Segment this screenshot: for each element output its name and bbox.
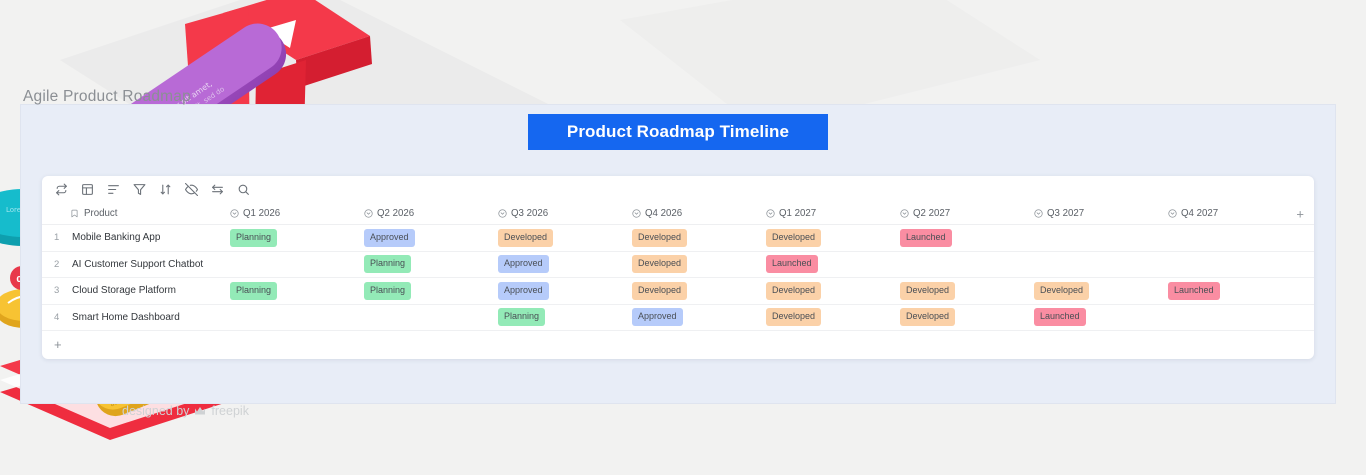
status-cell-q4-2026[interactable]: Developed <box>632 282 766 300</box>
status-cell-q2-2026[interactable]: Approved <box>364 229 498 247</box>
header-column-q3-2027[interactable]: Q3 2027 <box>1034 208 1168 219</box>
row-product-name[interactable]: Smart Home Dashboard <box>70 312 230 323</box>
status-badge: Planning <box>230 229 277 247</box>
status-cell-q1-2027[interactable]: Launched <box>766 255 900 273</box>
single-select-icon <box>900 209 909 218</box>
single-select-icon <box>1034 209 1043 218</box>
status-badge: Launched <box>900 229 952 247</box>
row-product-name[interactable]: AI Customer Support Chatbot <box>70 259 230 270</box>
hide-fields-icon[interactable] <box>180 180 202 200</box>
status-cell-q1-2026[interactable]: Planning <box>230 229 364 247</box>
row-height-icon[interactable] <box>102 180 124 200</box>
header-column-q1-2026[interactable]: Q1 2026 <box>230 208 364 219</box>
header-column-label: Q1 2026 <box>243 208 280 219</box>
status-cell-q1-2027[interactable]: Developed <box>766 308 900 326</box>
status-cell-q3-2027[interactable]: Launched <box>1034 308 1168 326</box>
search-icon[interactable] <box>232 180 254 200</box>
table-row[interactable]: 3Cloud Storage PlatformPlanningPlanningA… <box>42 278 1314 305</box>
status-cell-q2-2026[interactable]: Planning <box>364 282 498 300</box>
table-header-row: Product Q1 2026 Q2 2026 Q3 2026 Q4 2026 <box>42 203 1314 225</box>
status-badge: Developed <box>766 282 821 300</box>
header-column-q2-2026[interactable]: Q2 2026 <box>364 208 498 219</box>
status-badge: Approved <box>364 229 415 247</box>
bookmark-icon <box>70 209 79 218</box>
status-cell-q4-2026[interactable]: Approved <box>632 308 766 326</box>
add-column-button[interactable]: + <box>1296 207 1304 220</box>
watermark-prefix: designed by <box>122 404 189 418</box>
header-column-label: Q4 2027 <box>1181 208 1218 219</box>
header-column-label: Q2 2027 <box>913 208 950 219</box>
status-badge: Developed <box>1034 282 1089 300</box>
row-product-name[interactable]: Cloud Storage Platform <box>70 285 230 296</box>
header-product-column[interactable]: Product <box>70 208 230 219</box>
single-select-icon <box>632 209 641 218</box>
status-badge: Developed <box>766 229 821 247</box>
header-column-q4-2026[interactable]: Q4 2026 <box>632 208 766 219</box>
status-cell-q3-2026[interactable]: Approved <box>498 255 632 273</box>
row-index: 4 <box>42 312 70 323</box>
crown-icon <box>194 406 206 416</box>
header-column-q2-2027[interactable]: Q2 2027 <box>900 208 1034 219</box>
row-index: 1 <box>42 232 70 243</box>
status-cell-q2-2027[interactable]: Developed <box>900 282 1034 300</box>
status-badge: Developed <box>632 229 687 247</box>
single-select-icon <box>230 209 239 218</box>
status-badge: Planning <box>364 282 411 300</box>
status-cell-q1-2026[interactable]: Planning <box>230 282 364 300</box>
single-select-icon <box>498 209 507 218</box>
status-cell-q2-2026[interactable]: Planning <box>364 255 498 273</box>
status-badge: Planning <box>364 255 411 273</box>
table-toolbar <box>42 176 1314 203</box>
status-cell-q1-2027[interactable]: Developed <box>766 282 900 300</box>
banner-title: Product Roadmap Timeline <box>567 122 789 142</box>
single-select-icon <box>364 209 373 218</box>
roadmap-banner: Product Roadmap Timeline <box>528 114 828 150</box>
status-badge: Approved <box>632 308 683 326</box>
header-column-q4-2027[interactable]: Q4 2027 <box>1168 208 1302 219</box>
status-badge: Developed <box>632 282 687 300</box>
status-cell-q2-2027[interactable]: Developed <box>900 308 1034 326</box>
header-column-label: Q2 2026 <box>377 208 414 219</box>
page-title: Agile Product Roadmap <box>23 88 191 106</box>
status-badge: Planning <box>498 308 545 326</box>
status-cell-q3-2026[interactable]: Developed <box>498 229 632 247</box>
header-column-q3-2026[interactable]: Q3 2026 <box>498 208 632 219</box>
status-badge: Launched <box>1034 308 1086 326</box>
roadmap-table-card: Product Q1 2026 Q2 2026 Q3 2026 Q4 2026 <box>42 176 1314 359</box>
table-row[interactable]: 4Smart Home DashboardPlanningApprovedDev… <box>42 305 1314 332</box>
header-product-label: Product <box>84 208 117 219</box>
status-cell-q4-2026[interactable]: Developed <box>632 229 766 247</box>
settings-icon[interactable] <box>206 180 228 200</box>
status-badge: Approved <box>498 255 549 273</box>
filter-icon[interactable] <box>128 180 150 200</box>
status-cell-q2-2027[interactable]: Launched <box>900 229 1034 247</box>
header-column-label: Q1 2027 <box>779 208 816 219</box>
status-badge: Launched <box>766 255 818 273</box>
table-row[interactable]: 1Mobile Banking AppPlanningApprovedDevel… <box>42 225 1314 252</box>
status-cell-q1-2027[interactable]: Developed <box>766 229 900 247</box>
status-badge: Developed <box>498 229 553 247</box>
status-badge: Launched <box>1168 282 1220 300</box>
status-badge: Developed <box>766 308 821 326</box>
watermark-brand: freepik <box>211 404 249 418</box>
grid-view-icon[interactable] <box>76 180 98 200</box>
sort-icon[interactable] <box>154 180 176 200</box>
freepik-watermark: designed by freepik <box>122 404 249 418</box>
header-column-label: Q3 2027 <box>1047 208 1084 219</box>
status-cell-q3-2026[interactable]: Approved <box>498 282 632 300</box>
add-row-button[interactable]: + <box>54 338 62 351</box>
status-badge: Planning <box>230 282 277 300</box>
row-product-name[interactable]: Mobile Banking App <box>70 232 230 243</box>
row-index: 3 <box>42 285 70 296</box>
header-column-label: Q3 2026 <box>511 208 548 219</box>
status-badge: Developed <box>632 255 687 273</box>
header-column-q1-2027[interactable]: Q1 2027 <box>766 208 900 219</box>
table-body: 1Mobile Banking AppPlanningApprovedDevel… <box>42 225 1314 331</box>
single-select-icon <box>1168 209 1177 218</box>
status-cell-q3-2026[interactable]: Planning <box>498 308 632 326</box>
sync-icon[interactable] <box>50 180 72 200</box>
row-index: 2 <box>42 259 70 270</box>
table-row[interactable]: 2AI Customer Support ChatbotPlanningAppr… <box>42 252 1314 279</box>
status-cell-q3-2027[interactable]: Developed <box>1034 282 1168 300</box>
header-column-label: Q4 2026 <box>645 208 682 219</box>
single-select-icon <box>766 209 775 218</box>
status-badge: Developed <box>900 308 955 326</box>
status-cell-q4-2027[interactable]: Launched <box>1168 282 1302 300</box>
status-badge: Developed <box>900 282 955 300</box>
status-badge: Approved <box>498 282 549 300</box>
status-cell-q4-2026[interactable]: Developed <box>632 255 766 273</box>
add-row-footer: + <box>42 331 1314 358</box>
